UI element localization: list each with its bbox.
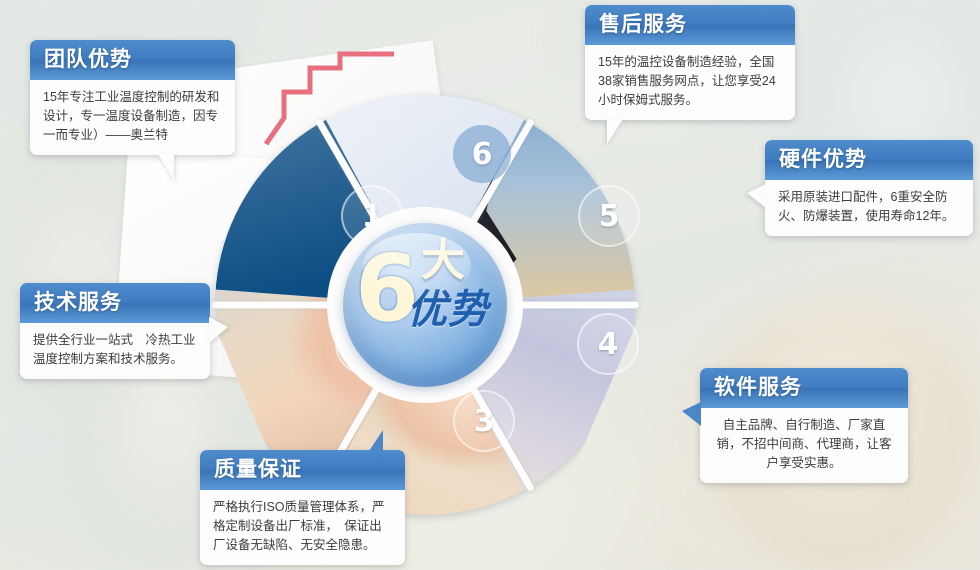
callout-title: 技术服务 [20,283,210,323]
callout-quality-guarantee[interactable]: 质量保证 严格执行ISO质量管理体系，严格定制设备出厂标准， 保证出厂设备无缺陷… [200,450,405,565]
callout-tail [607,119,623,144]
callout-after-sales-service[interactable]: 售后服务 15年的温控设备制造经验，全国38家销售服务网点，让您享受24小时保姆… [585,5,795,120]
badge-subtitle: 优势 [407,289,489,331]
callout-tail [682,402,701,426]
callout-technical-service[interactable]: 技术服务 提供全行业一站式 冷热工业温度控制方案和技术服务。 [20,283,210,379]
segment-number-6[interactable]: 6 [453,125,511,183]
callout-body: 严格执行ISO质量管理体系，严格定制设备出厂标准， 保证出厂设备无缺陷、无安全隐… [200,490,405,565]
badge-big-char: 大 [421,239,465,283]
callout-hardware-advantage[interactable]: 硬件优势 采用原装进口配件，6重安全防火、防爆装置，使用寿命12年。 [765,140,973,236]
center-badge[interactable]: 6 大 优势 [343,223,507,387]
callout-software-service[interactable]: 软件服务 自主品牌、自行制造、厂家直销，不招中间商、代理商，让客户享受实惠。 [700,368,908,483]
callout-body: 采用原装进口配件，6重安全防火、防爆装置，使用寿命12年。 [765,180,973,236]
callout-title: 软件服务 [700,368,908,408]
callout-body: 15年的温控设备制造经验，全国38家销售服务网点，让您享受24小时保姆式服务。 [585,45,795,120]
segment-number-5[interactable]: 5 [578,185,640,247]
callout-body: 15年专注工业温度控制的研发和设计，专一温度设备制造，因专一而专业）——奥兰特 [30,80,235,155]
segment-number-4[interactable]: 4 [577,313,639,375]
callout-tail [158,154,174,181]
callout-title: 团队优势 [30,40,235,80]
callout-team-advantage[interactable]: 团队优势 15年专注工业温度控制的研发和设计，专一温度设备制造，因专一而专业）—… [30,40,235,155]
callout-tail [747,184,766,208]
segment-number-3[interactable]: 3 [453,390,515,452]
callout-title: 质量保证 [200,450,405,490]
callout-title: 硬件优势 [765,140,973,180]
callout-title: 售后服务 [585,5,795,45]
infographic-canvas: 1 2 3 4 5 6 6 大 优势 团队优势 15年专注工业温度控制的研发和设… [0,0,980,570]
callout-body: 提供全行业一站式 冷热工业温度控制方案和技术服务。 [20,323,210,379]
callout-tail [369,430,383,451]
callout-body: 自主品牌、自行制造、厂家直销，不招中间商、代理商，让客户享受实惠。 [700,408,908,483]
callout-tail [209,317,228,343]
